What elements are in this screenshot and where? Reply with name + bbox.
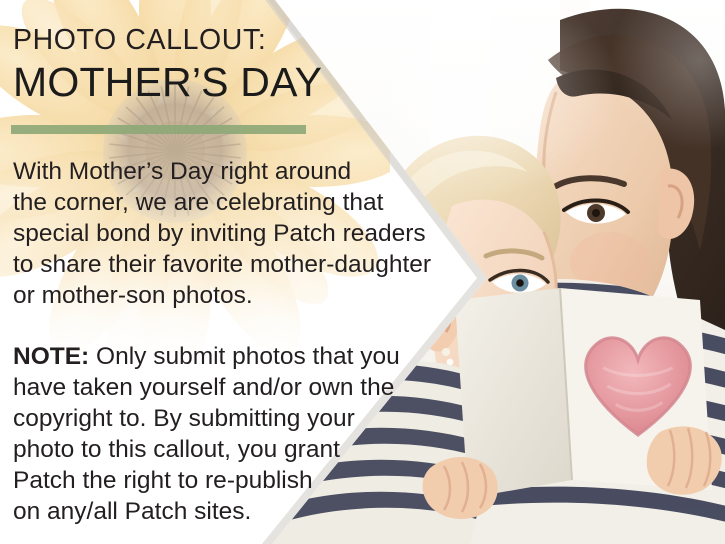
note-paragraph: NOTE: Only submit photos that you have t… — [13, 341, 433, 527]
intro-line: special bond by inviting Patch readers — [13, 218, 483, 249]
intro-line: or mother-son photos. — [13, 280, 483, 311]
intro-paragraph: With Mother’s Day right around the corne… — [13, 156, 483, 311]
note-line: Patch the right to re-publish — [13, 465, 433, 496]
kicker-text: PHOTO CALLOUT: — [13, 24, 266, 57]
note-label: NOTE: — [13, 343, 89, 370]
photo-callout-graphic: PHOTO CALLOUT: MOTHER’S DAY With Mother’… — [0, 0, 725, 544]
intro-line: to share their favorite mother-daughter — [13, 249, 483, 280]
page-title: MOTHER’S DAY — [13, 59, 322, 106]
intro-line: With Mother’s Day right around — [13, 156, 483, 187]
intro-line: the corner, we are celebrating that — [13, 187, 483, 218]
callout-copy: PHOTO CALLOUT: MOTHER’S DAY With Mother’… — [0, 0, 500, 544]
note-line: on any/all Patch sites. — [13, 496, 433, 527]
note-line: photo to this callout, you grant — [13, 434, 433, 465]
note-line: copyright to. By submitting your — [13, 403, 433, 434]
note-line: have taken yourself and/or own the — [13, 372, 433, 403]
title-rule — [11, 125, 306, 134]
note-line: Only submit photos that you — [89, 343, 400, 370]
note-first-line: NOTE: Only submit photos that you — [13, 341, 433, 372]
